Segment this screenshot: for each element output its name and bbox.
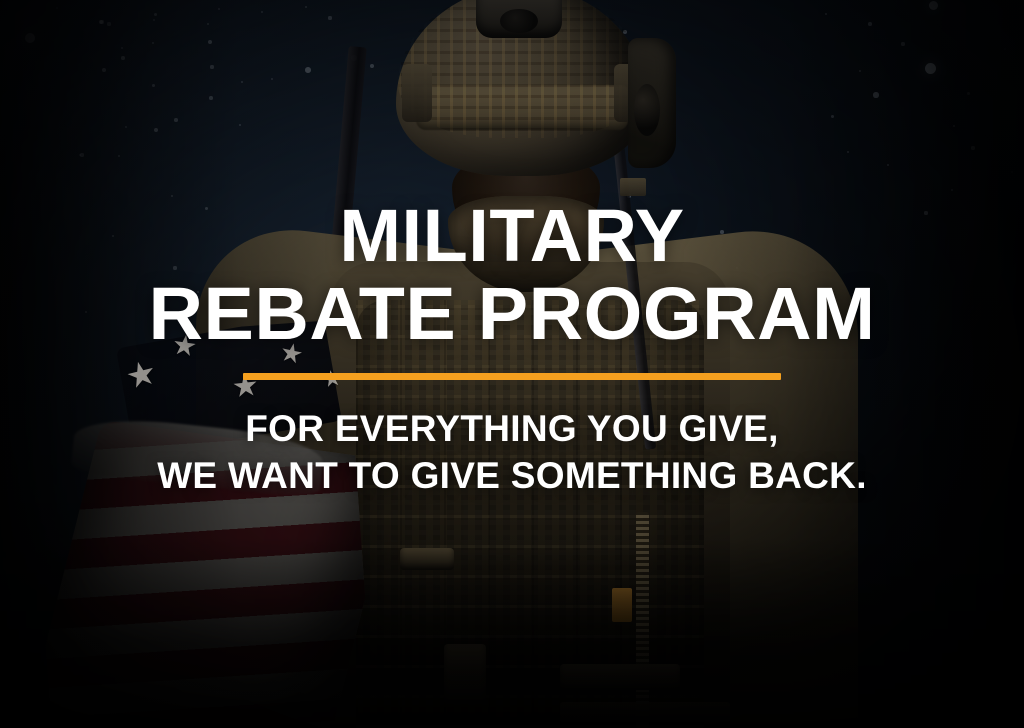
page-title: MILITARY REBATE PROGRAM [0, 0, 1024, 349]
headline-line-1: MILITARY [0, 200, 1024, 271]
subtitle-line-2: WE WANT TO GIVE SOMETHING BACK. [0, 453, 1024, 500]
orange-divider [243, 373, 781, 380]
military-rebate-banner: ★★★★★ MILITARY REBATE PROGRAM FOR EVERYT… [0, 0, 1024, 728]
banner-content: MILITARY REBATE PROGRAM FOR EVERYTHING Y… [0, 0, 1024, 728]
subtitle-line-1: FOR EVERYTHING YOU GIVE, [0, 406, 1024, 453]
subtitle: FOR EVERYTHING YOU GIVE, WE WANT TO GIVE… [0, 406, 1024, 499]
headline-line-2: REBATE PROGRAM [0, 278, 1024, 349]
